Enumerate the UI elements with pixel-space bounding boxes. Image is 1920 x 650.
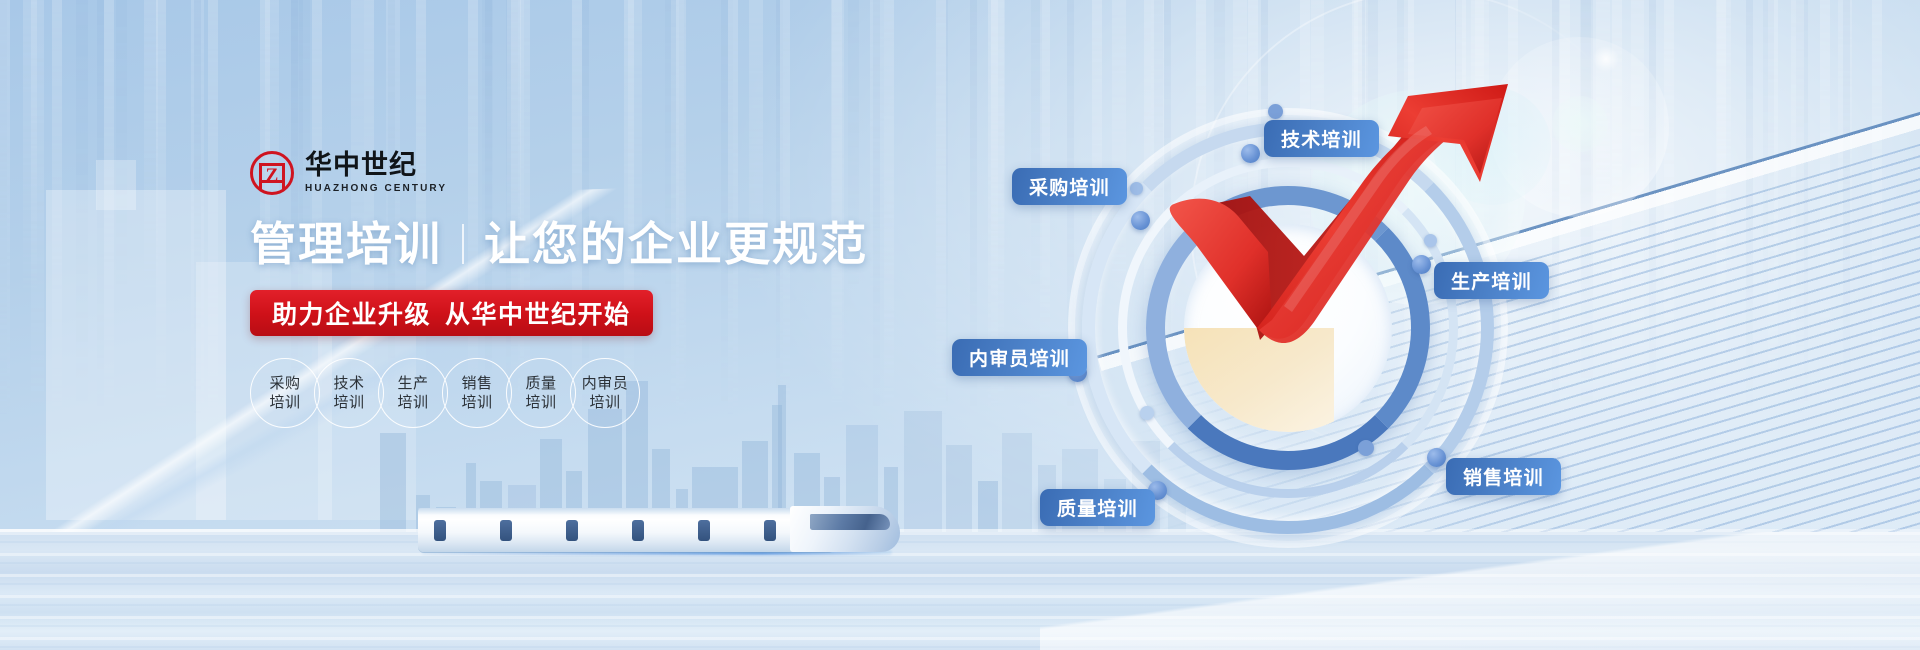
train-cab-window [810,514,890,530]
connector-node-caigou [1131,211,1150,230]
circle-tag-line2: 培训 [589,393,620,412]
badge-jishu-training[interactable]: 技术培训 [1264,120,1379,157]
connector-node-shengchan [1412,255,1431,274]
connector-node-jishu [1241,144,1260,163]
slogan-part-2: 从华中世纪开始 [445,295,631,331]
train-door [764,520,776,541]
badge-shengchan-training[interactable]: 生产培训 [1434,262,1549,299]
circle-tag-line2: 培训 [397,393,428,412]
target-node-dot [1140,406,1154,420]
train-door [566,520,578,541]
circle-tag-line1: 销售 [461,374,492,393]
high-speed-train-icon [418,502,898,552]
concentric-target-icon [1068,108,1508,548]
badge-label: 内审员培训 [969,344,1070,371]
circle-tag-line1: 质量 [525,374,556,393]
badge-caigou-training[interactable]: 采购培训 [1012,168,1127,205]
train-door [698,520,710,541]
brand-name-cn: 华中世纪 [305,151,447,180]
ground-light-wedge [1040,532,1920,650]
ghost-building-1 [46,190,226,520]
banner-content: Z 华中世纪 HUAZHONG CENTURY 管理培训 让您的企业更规范 助力… [250,150,930,428]
circle-tag-neishenyuan[interactable]: 内审员 培训 [570,358,640,428]
circle-tag-zhiliang[interactable]: 质量 培训 [506,358,576,428]
circle-tag-xiaoshou[interactable]: 销售 培训 [442,358,512,428]
badge-label: 生产培训 [1451,267,1532,294]
circle-tag-shengchan[interactable]: 生产 培训 [378,358,448,428]
target-node-dot [1130,182,1143,195]
bokeh-circle-tiny-icon [1552,96,1608,152]
circle-tag-line1: 采购 [269,374,300,393]
train-door [500,520,512,541]
training-promo-banner: 采购培训 技术培训 生产培训 销售培训 质量培训 内审员培训 Z 华中世纪 [0,0,1920,650]
badge-label: 质量培训 [1057,494,1138,521]
circle-tag-list: 采购 培训 技术 培训 生产 培训 销售 培训 质量 培训 内审员 培训 [250,358,930,428]
headline-left: 管理培训 [250,216,442,272]
reflective-ground [0,532,1920,650]
brand-name-en: HUAZHONG CENTURY [305,182,447,195]
ghost-building-4 [96,160,136,210]
headline-divider [462,224,464,264]
train-roof [418,508,836,515]
circle-tag-line2: 培训 [269,393,300,412]
badge-neishenyuan-training[interactable]: 内审员培训 [952,339,1087,376]
badge-label: 采购培训 [1029,173,1110,200]
circle-tag-line2: 培训 [525,393,556,412]
slogan-banner: 助力企业升级 从华中世纪开始 [250,290,653,336]
connector-node-xiaoshou [1427,448,1446,467]
badge-zhiliang-training[interactable]: 质量培训 [1040,489,1155,526]
badge-label: 销售培训 [1463,463,1544,490]
brand-logo[interactable]: Z 华中世纪 HUAZHONG CENTURY [250,150,930,196]
circle-tag-line2: 培训 [461,393,492,412]
badge-label: 技术培训 [1281,125,1362,152]
slogan-part-1: 助力企业升级 [272,295,431,331]
circle-tag-caigou[interactable]: 采购 培训 [250,358,320,428]
circle-tag-line2: 培训 [333,393,364,412]
headline-right: 让您的企业更规范 [484,216,868,272]
huazhong-emblem-icon: Z [250,151,294,195]
train-body [418,508,836,552]
circle-tag-line1: 生产 [397,374,428,393]
circle-tag-line1: 内审员 [582,374,629,393]
train-door [632,520,644,541]
circle-tag-jishu[interactable]: 技术 培训 [314,358,384,428]
badge-xiaoshou-training[interactable]: 销售培训 [1446,458,1561,495]
circle-tag-line1: 技术 [333,374,364,393]
page-title: 管理培训 让您的企业更规范 [250,216,930,272]
train-door [434,520,446,541]
bokeh-spark-icon [1593,46,1619,72]
